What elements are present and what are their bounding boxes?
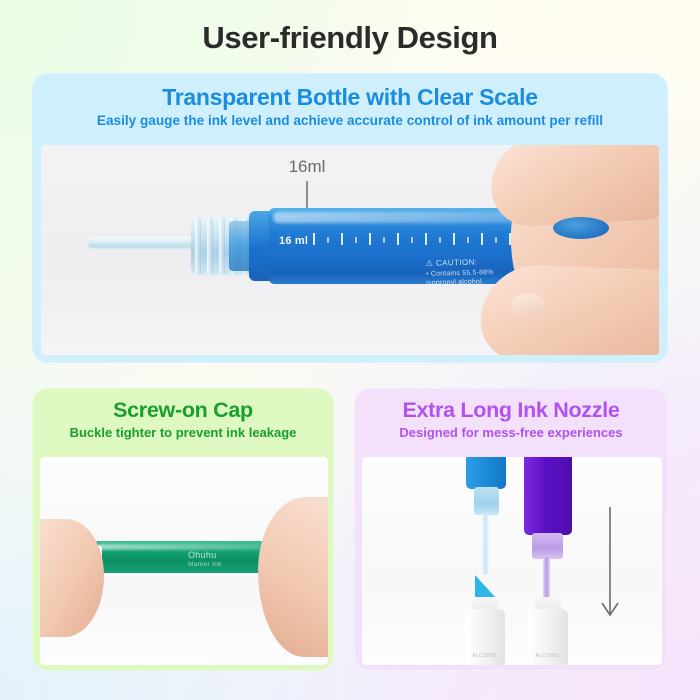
card-cap-header: Screw-on Cap Buckle tighter to prevent i…: [33, 389, 333, 448]
chisel-nib-icon: [475, 575, 495, 597]
tick-minor: [355, 237, 357, 243]
nozzle-tube: [88, 237, 200, 250]
tick-minor: [327, 237, 329, 243]
card-bottle-header: Transparent Bottle with Clear Scale Easi…: [33, 74, 667, 139]
card-nozzle-header: Extra Long Ink Nozzle Designed for mess-…: [355, 389, 667, 448]
finger-top: [489, 145, 659, 228]
left-marker-label: ALCOHOL: [465, 653, 505, 659]
tick-minor: [439, 237, 441, 243]
tick-major: [369, 233, 371, 245]
thread-ridge: [195, 217, 201, 275]
tick-minor: [495, 237, 497, 243]
blue-bottle-neck: [474, 487, 499, 515]
right-marker-label: ALCOHOL: [528, 653, 568, 659]
tick-major: [481, 233, 483, 245]
blue-ink-bottle: [466, 457, 506, 489]
card-cap-subtitle: Buckle tighter to prevent ink leakage: [39, 425, 327, 441]
purple-bottle-neck: [532, 533, 563, 559]
right-hand: [258, 497, 328, 657]
ink-bottle-illustration: 16 ml: [41, 145, 659, 355]
tick-minor: [383, 237, 385, 243]
card-transparent-bottle: Transparent Bottle with Clear Scale Easi…: [32, 73, 668, 363]
caution-line-2: isopropyl alcohol.: [426, 277, 494, 288]
tick-major: [425, 233, 427, 245]
cap-photo: Ohuhu Marker Ink: [40, 457, 328, 665]
card-nozzle-title: Extra Long Ink Nozzle: [361, 398, 661, 423]
tick-minor: [411, 237, 413, 243]
card-extra-long-nozzle: Extra Long Ink Nozzle Designed for mess-…: [354, 388, 668, 671]
card-cap-title: Screw-on Cap: [39, 398, 327, 423]
brand-subtitle: Marker Ink: [188, 561, 268, 570]
page-background: User-friendly Design Transparent Bottle …: [0, 0, 700, 700]
bottle-grip-dimple: [553, 217, 609, 239]
nozzle-photo: ALCOHOL ALCOHOL: [362, 457, 662, 665]
brand-label: Ohuhu Marker Ink: [188, 549, 268, 570]
tick-major: [313, 233, 315, 245]
tick-minor: [467, 237, 469, 243]
card-screw-on-cap: Screw-on Cap Buckle tighter to prevent i…: [32, 388, 334, 671]
finger-bottom: [479, 263, 659, 355]
arrow-down-icon: [598, 505, 622, 625]
thread-ridge: [207, 217, 213, 275]
tick-major: [397, 233, 399, 245]
card-bottle-title: Transparent Bottle with Clear Scale: [41, 84, 659, 110]
tick-major: [341, 233, 343, 245]
warning-triangle-icon: ⚠: [426, 259, 434, 268]
blue-nozzle-tube: [482, 513, 489, 575]
card-nozzle-subtitle: Designed for mess-free experiences: [361, 425, 661, 441]
purple-ink-bottle: [524, 457, 572, 535]
fingernail: [511, 293, 545, 317]
page-title: User-friendly Design: [0, 20, 700, 56]
tick-major: [453, 233, 455, 245]
brand-name: Ohuhu: [188, 549, 268, 561]
thread-ridge: [219, 217, 225, 275]
card-bottle-subtitle: Easily gauge the ink level and achieve a…: [41, 113, 659, 129]
bottle-photo: 16ml 16 ml: [41, 145, 659, 355]
bottle-scale-label: 16 ml: [279, 235, 308, 247]
caution-text-block: ⚠ CAUTION: • Contains 55.5-88% isopropyl…: [426, 257, 494, 288]
